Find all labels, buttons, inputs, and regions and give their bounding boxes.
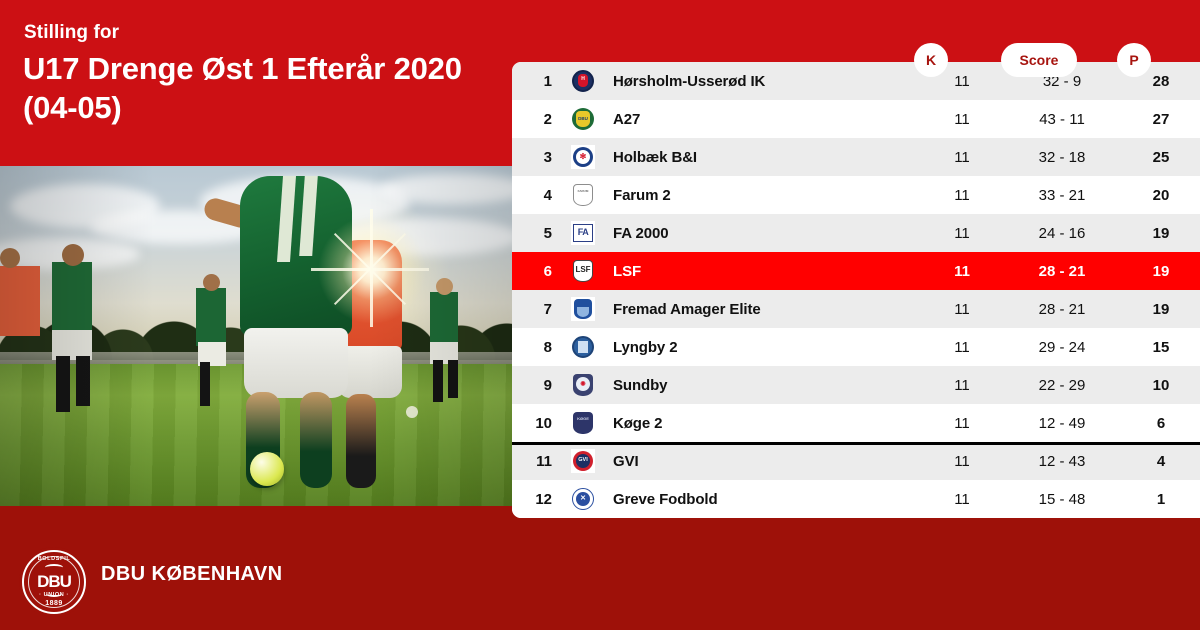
row-points: 20 (1122, 187, 1200, 204)
row-position: 8 (512, 339, 560, 356)
hero-photo (0, 166, 512, 506)
row-score: 32 - 18 (1002, 149, 1122, 166)
page-title: U17 Drenge Øst 1 Efterår 2020 (04-05) (23, 49, 493, 127)
row-score: 15 - 48 (1002, 491, 1122, 508)
row-team-name: Sundby (606, 377, 922, 394)
row-team-name: Køge 2 (606, 415, 922, 432)
row-score: 33 - 21 (1002, 187, 1122, 204)
background-player-leg (433, 360, 443, 402)
background-player-leg (56, 356, 70, 412)
row-position: 5 (512, 225, 560, 242)
footer-brand: DBU KØBENHAVN (101, 563, 283, 586)
club-crest-icon (560, 297, 606, 321)
background-player (196, 288, 226, 346)
distant-football (406, 406, 418, 418)
row-position: 2 (512, 111, 560, 128)
table-row[interactable]: 7Fremad Amager Elite1128 - 2119 (512, 290, 1200, 328)
row-points: 1 (1122, 491, 1200, 508)
row-position: 1 (512, 73, 560, 90)
row-score: 28 - 21 (1002, 263, 1122, 280)
table-row[interactable]: 10KØGEKøge 21112 - 496 (512, 404, 1200, 442)
row-position: 12 (512, 491, 560, 508)
row-team-name: FA 2000 (606, 225, 922, 242)
row-score: 28 - 21 (1002, 301, 1122, 318)
background-player-head (203, 274, 220, 291)
row-team-name: Holbæk B&I (606, 149, 922, 166)
club-crest-icon: FA (560, 221, 606, 245)
row-score: 22 - 29 (1002, 377, 1122, 394)
club-crest-icon: ◉ (560, 373, 606, 397)
background-player-leg (76, 356, 90, 406)
table-row[interactable]: 6LSFLSF1128 - 2119 (512, 252, 1200, 290)
row-team-name: Hørsholm-Usserød IK (606, 73, 922, 90)
club-crest-icon: ✕ (560, 487, 606, 511)
background-player (430, 292, 458, 346)
row-points: 25 (1122, 149, 1200, 166)
background-player-head (62, 244, 84, 266)
row-points: 19 (1122, 225, 1200, 242)
row-position: 3 (512, 149, 560, 166)
table-row[interactable]: 2DBUA271143 - 1127 (512, 100, 1200, 138)
opponent-player-leg (346, 394, 376, 488)
row-team-name: GVI (606, 453, 922, 470)
row-team-name: Greve Fodbold (606, 491, 922, 508)
background-player-leg (448, 360, 458, 398)
row-points: 6 (1122, 415, 1200, 432)
club-crest-icon: ✻ (560, 145, 606, 169)
row-matches: 11 (922, 149, 1002, 166)
row-position: 6 (512, 263, 560, 280)
table-row[interactable]: 3✻Holbæk B&I1132 - 1825 (512, 138, 1200, 176)
background-player-head (436, 278, 453, 295)
main-player-leg (300, 392, 332, 488)
logo-wreath-top (45, 564, 63, 571)
row-score: 43 - 11 (1002, 111, 1122, 128)
row-score: 12 - 49 (1002, 415, 1122, 432)
table-row[interactable]: 9◉Sundby1122 - 2910 (512, 366, 1200, 404)
logo-arc-bottom: · UNION · (19, 592, 89, 598)
table-row[interactable]: 4FARUMFarum 21133 - 2120 (512, 176, 1200, 214)
row-team-name: Farum 2 (606, 187, 922, 204)
row-points: 10 (1122, 377, 1200, 394)
row-points: 19 (1122, 301, 1200, 318)
row-points: 15 (1122, 339, 1200, 356)
row-position: 10 (512, 415, 560, 432)
club-crest-icon: H (560, 69, 606, 93)
logo-year: 1889 (19, 600, 89, 607)
football (250, 452, 284, 486)
dbu-logo-icon: · BOLDSPIL · DBU · UNION · 1889 (19, 547, 89, 617)
logo-monogram: DBU (19, 572, 89, 592)
background-player (0, 266, 40, 336)
background-player-leg (200, 362, 210, 406)
row-matches: 11 (922, 111, 1002, 128)
table-row[interactable]: 8Lyngby 21129 - 2415 (512, 328, 1200, 366)
row-team-name: LSF (606, 263, 922, 280)
row-position: 11 (512, 453, 560, 470)
row-matches: 11 (922, 415, 1002, 432)
row-points: 27 (1122, 111, 1200, 128)
header-kicker: Stilling for (24, 22, 119, 44)
table-row[interactable]: 11GVIGVI1112 - 434 (512, 442, 1200, 480)
row-position: 4 (512, 187, 560, 204)
main-player-shorts (244, 328, 348, 398)
row-points: 4 (1122, 453, 1200, 470)
column-header-matches: K (914, 43, 948, 77)
table-row[interactable]: 1HHørsholm-Usserød IK1132 - 928 (512, 62, 1200, 100)
column-header-points: P (1117, 43, 1151, 77)
club-crest-icon: DBU (560, 107, 606, 131)
row-matches: 11 (922, 301, 1002, 318)
row-points: 19 (1122, 263, 1200, 280)
club-crest-icon: FARUM (560, 183, 606, 207)
club-crest-icon: KØGE (560, 411, 606, 435)
standings-table: 1HHørsholm-Usserød IK1132 - 9282DBUA2711… (512, 62, 1200, 518)
club-crest-icon: GVI (560, 449, 606, 473)
row-matches: 11 (922, 225, 1002, 242)
background-player (52, 262, 92, 334)
row-position: 7 (512, 301, 560, 318)
row-matches: 11 (922, 377, 1002, 394)
row-matches: 11 (922, 491, 1002, 508)
row-matches: 11 (922, 453, 1002, 470)
column-header-score: Score (1001, 43, 1077, 77)
row-matches: 11 (922, 339, 1002, 356)
row-position: 9 (512, 377, 560, 394)
row-team-name: A27 (606, 111, 922, 128)
table-row[interactable]: 12✕Greve Fodbold1115 - 481 (512, 480, 1200, 518)
background-player-head (0, 248, 20, 268)
table-row[interactable]: 5FAFA 20001124 - 1619 (512, 214, 1200, 252)
row-matches: 11 (922, 263, 1002, 280)
row-score: 12 - 43 (1002, 453, 1122, 470)
row-score: 29 - 24 (1002, 339, 1122, 356)
club-crest-icon: LSF (560, 259, 606, 283)
logo-arc-top: · BOLDSPIL · (19, 556, 89, 562)
row-team-name: Lyngby 2 (606, 339, 922, 356)
club-crest-icon (560, 335, 606, 359)
row-score: 24 - 16 (1002, 225, 1122, 242)
row-matches: 11 (922, 187, 1002, 204)
row-team-name: Fremad Amager Elite (606, 301, 922, 318)
